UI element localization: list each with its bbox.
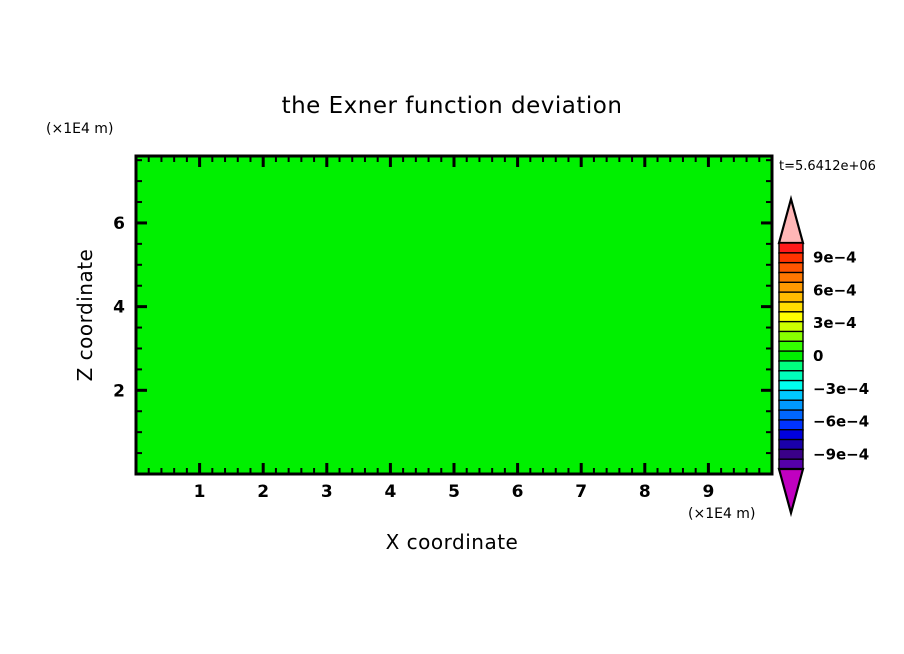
x-tick-label: 1 bbox=[194, 482, 206, 502]
y-axis-unit-label: (×1E4 m) bbox=[46, 121, 113, 137]
colorbar-band bbox=[779, 371, 803, 381]
colorbar-band bbox=[779, 243, 803, 253]
contour-field bbox=[136, 156, 772, 484]
x-axis-title: X coordinate bbox=[386, 530, 519, 554]
colorbar-band bbox=[779, 322, 803, 332]
colorbar-bands bbox=[779, 243, 803, 469]
colorbar-band bbox=[779, 312, 803, 322]
colorbar-band bbox=[779, 459, 803, 469]
x-tick-label: 3 bbox=[321, 482, 333, 502]
colorbar-band bbox=[779, 430, 803, 440]
x-tick-label: 2 bbox=[257, 482, 269, 502]
colorbar-band bbox=[779, 302, 803, 312]
colorbar-band bbox=[779, 263, 803, 273]
colorbar-band bbox=[779, 272, 803, 282]
colorbar-band bbox=[779, 331, 803, 341]
colorbar-band bbox=[779, 341, 803, 351]
x-tick-label: 7 bbox=[575, 482, 587, 502]
page-title: the Exner function deviation bbox=[282, 93, 623, 119]
x-tick-label: 4 bbox=[384, 482, 396, 502]
colorbar-label: 3e−4 bbox=[813, 314, 857, 332]
y-tick-label: 2 bbox=[113, 381, 125, 401]
colorbar-band bbox=[779, 449, 803, 459]
colorbar-label: −9e−4 bbox=[813, 445, 869, 463]
colorbar-band bbox=[779, 351, 803, 361]
colorbar-label: −3e−4 bbox=[813, 380, 869, 398]
colorbar-label: 6e−4 bbox=[813, 281, 857, 299]
colorbar-band bbox=[779, 282, 803, 292]
x-axis-unit-label: (×1E4 m) bbox=[688, 506, 755, 522]
colorbar-band bbox=[779, 410, 803, 420]
colorbar-band bbox=[779, 253, 803, 263]
colorbar-band bbox=[779, 292, 803, 302]
colorbar-band bbox=[779, 420, 803, 430]
x-tick-label: 8 bbox=[639, 482, 651, 502]
time-annotation: t=5.6412e+06 bbox=[779, 159, 876, 174]
exner-function-contour-figure: the Exner function deviation (×1E4 m) 12… bbox=[0, 0, 904, 654]
colorbar-band bbox=[779, 361, 803, 371]
x-tick-label: 9 bbox=[702, 482, 714, 502]
y-axis-title: Z coordinate bbox=[73, 249, 97, 382]
colorbar-band bbox=[779, 400, 803, 410]
y-tick-label: 6 bbox=[113, 214, 125, 234]
y-tick-label: 4 bbox=[113, 298, 125, 318]
colorbar-label: 9e−4 bbox=[813, 249, 857, 267]
colorbar-band bbox=[779, 440, 803, 450]
colorbar-band bbox=[779, 381, 803, 391]
colorbar-label: 0 bbox=[813, 347, 823, 365]
x-tick-label: 5 bbox=[448, 482, 460, 502]
colorbar-label: −6e−4 bbox=[813, 413, 869, 431]
colorbar-band bbox=[779, 390, 803, 400]
x-tick-label: 6 bbox=[512, 482, 524, 502]
